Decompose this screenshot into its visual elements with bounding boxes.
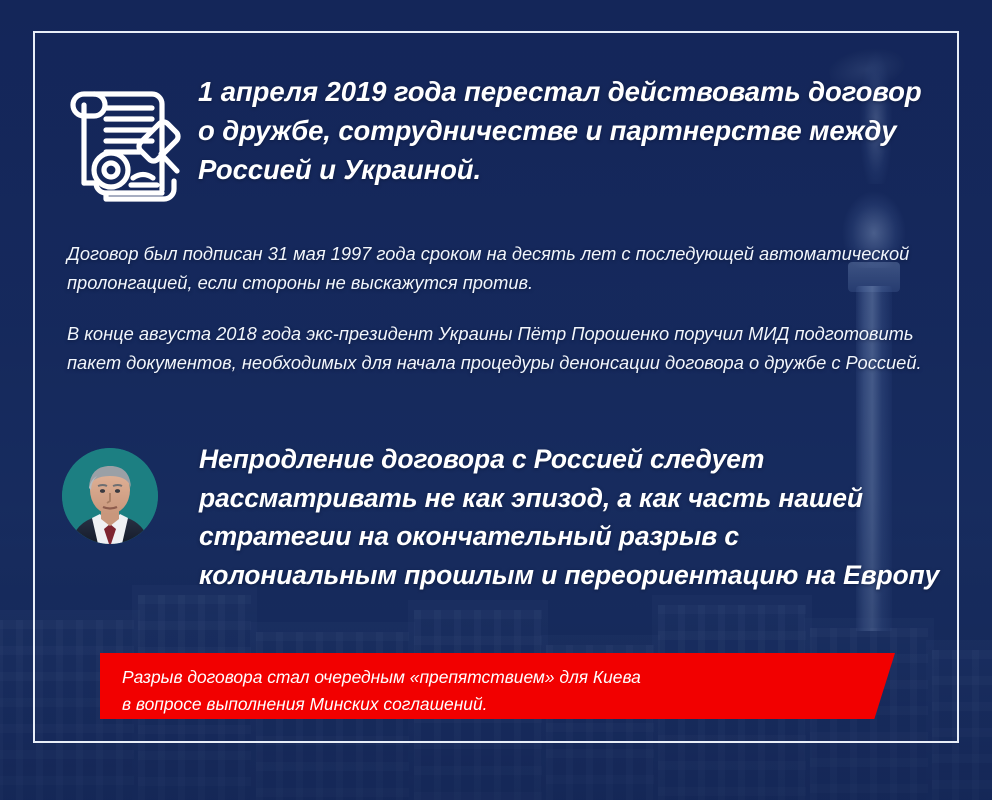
page-title: 1 апреля 2019 года перестал действовать … xyxy=(184,72,932,189)
infographic-poster: 1 апреля 2019 года перестал действовать … xyxy=(0,0,992,800)
quote-text: Непродление договора с Россией следует р… xyxy=(158,440,940,595)
paragraph-2: В конце августа 2018 года экс-президент … xyxy=(67,320,922,377)
paragraph-1: Договор был подписан 31 мая 1997 года ср… xyxy=(67,240,922,297)
avatar xyxy=(62,448,158,544)
status-banner: Разрыв договора стал очередным «препятст… xyxy=(100,653,895,719)
headline-block: 1 апреля 2019 года перестал действовать … xyxy=(62,72,932,206)
status-banner-text: Разрыв договора стал очередным «препятст… xyxy=(100,653,895,718)
document-scroll-gavel-icon xyxy=(62,78,184,206)
quote-block: Непродление договора с Россией следует р… xyxy=(62,440,940,595)
